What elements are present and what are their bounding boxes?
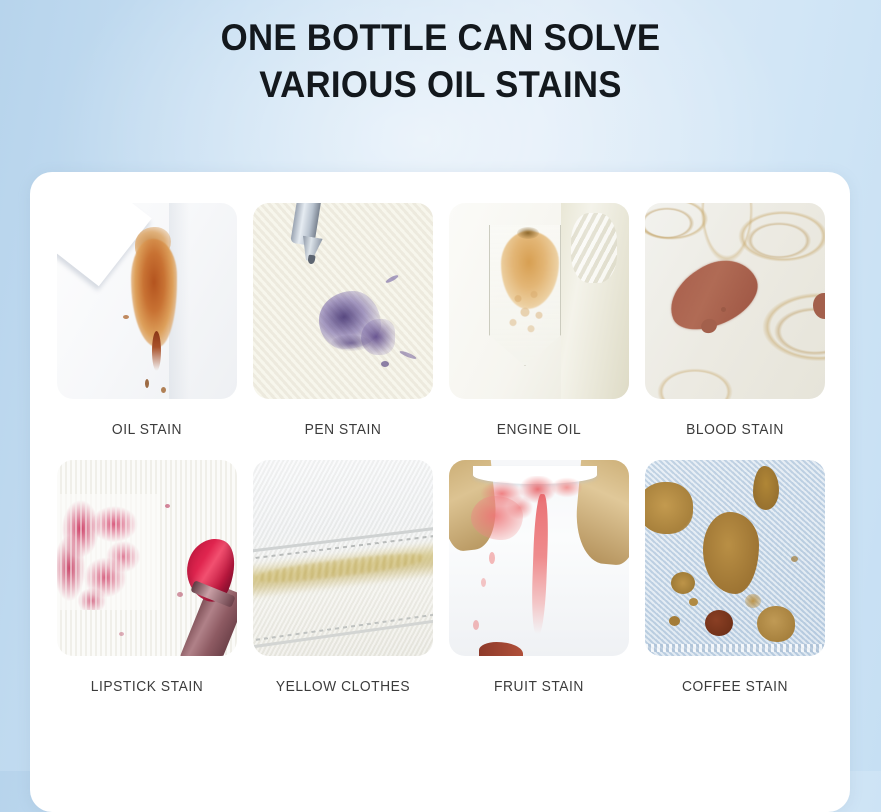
stain-label: OIL STAIN (64, 399, 230, 460)
stain-item-yellow-clothes[interactable]: YELLOW CLOTHES (253, 460, 433, 717)
coffee-drop-dark (705, 610, 733, 636)
blood-speck (721, 307, 726, 312)
stain-item-coffee-stain[interactable]: COFFEE STAIN (645, 460, 825, 717)
stain-label: YELLOW CLOTHES (260, 656, 426, 717)
coffee-speck (791, 556, 798, 562)
juice-drip (489, 552, 495, 564)
yellow-clothes-photo[interactable] (253, 460, 433, 656)
coffee-drop-medium (757, 606, 795, 642)
oil-speck (123, 315, 129, 319)
stain-item-fruit-stain[interactable]: FRUIT STAIN (449, 460, 629, 717)
oil-speck (145, 379, 149, 388)
ink-streak (399, 350, 417, 360)
sleeve-fold (571, 213, 617, 283)
oil-drip (152, 331, 161, 371)
stain-item-oil-stain[interactable]: OIL STAIN (57, 203, 237, 460)
pen-stain-photo[interactable] (253, 203, 433, 399)
stain-label: BLOOD STAIN (652, 399, 818, 460)
engine-oil-dark-core (517, 227, 539, 239)
engine-oil-spray-droplets (503, 283, 553, 335)
lipstick-fleck (177, 592, 183, 597)
stain-item-blood-stain[interactable]: BLOOD STAIN (645, 203, 825, 460)
pen-tip (307, 255, 315, 265)
denim-hem (645, 644, 825, 652)
gallery-card: OIL STAIN PEN STAIN (30, 172, 850, 812)
coffee-drop-large (645, 482, 693, 534)
fruit-stain-photo[interactable] (449, 460, 629, 656)
stain-item-lipstick-stain[interactable]: LIPSTICK STAIN (57, 460, 237, 717)
coffee-speck (669, 616, 680, 626)
ink-smudge (331, 335, 371, 351)
stain-item-pen-stain[interactable]: PEN STAIN (253, 203, 433, 460)
stain-grid: OIL STAIN PEN STAIN (57, 203, 825, 717)
stain-item-engine-oil[interactable]: ENGINE OIL (449, 203, 629, 460)
juice-dark-blot (479, 642, 523, 656)
stain-label: COFFEE STAIN (652, 656, 818, 717)
fabric-rib-overlay (57, 494, 159, 610)
coffee-drop-medium (753, 466, 779, 510)
stain-label: FRUIT STAIN (456, 656, 622, 717)
coffee-drop-large (703, 512, 759, 594)
coffee-speck (689, 598, 698, 606)
coffee-stain-photo[interactable] (645, 460, 825, 656)
page-title: ONE BOTTLE CAN SOLVE VARIOUS OIL STAINS (26, 14, 854, 109)
juice-drip (481, 578, 486, 587)
blood-stain-photo[interactable] (645, 203, 825, 399)
oil-speck (161, 387, 166, 393)
coffee-drop-small (745, 594, 761, 608)
lipstick-stain-photo[interactable] (57, 460, 237, 656)
ink-speck (381, 361, 389, 367)
stain-label: PEN STAIN (260, 399, 426, 460)
coffee-drop-small (671, 572, 695, 594)
lipstick-fleck (119, 632, 124, 636)
oil-stain-photo[interactable] (57, 203, 237, 399)
stain-label: ENGINE OIL (456, 399, 622, 460)
stain-label: LIPSTICK STAIN (64, 656, 230, 717)
juice-drip (473, 620, 479, 630)
ink-streak (385, 274, 399, 284)
engine-oil-photo[interactable] (449, 203, 629, 399)
lipstick-fleck (165, 504, 170, 508)
